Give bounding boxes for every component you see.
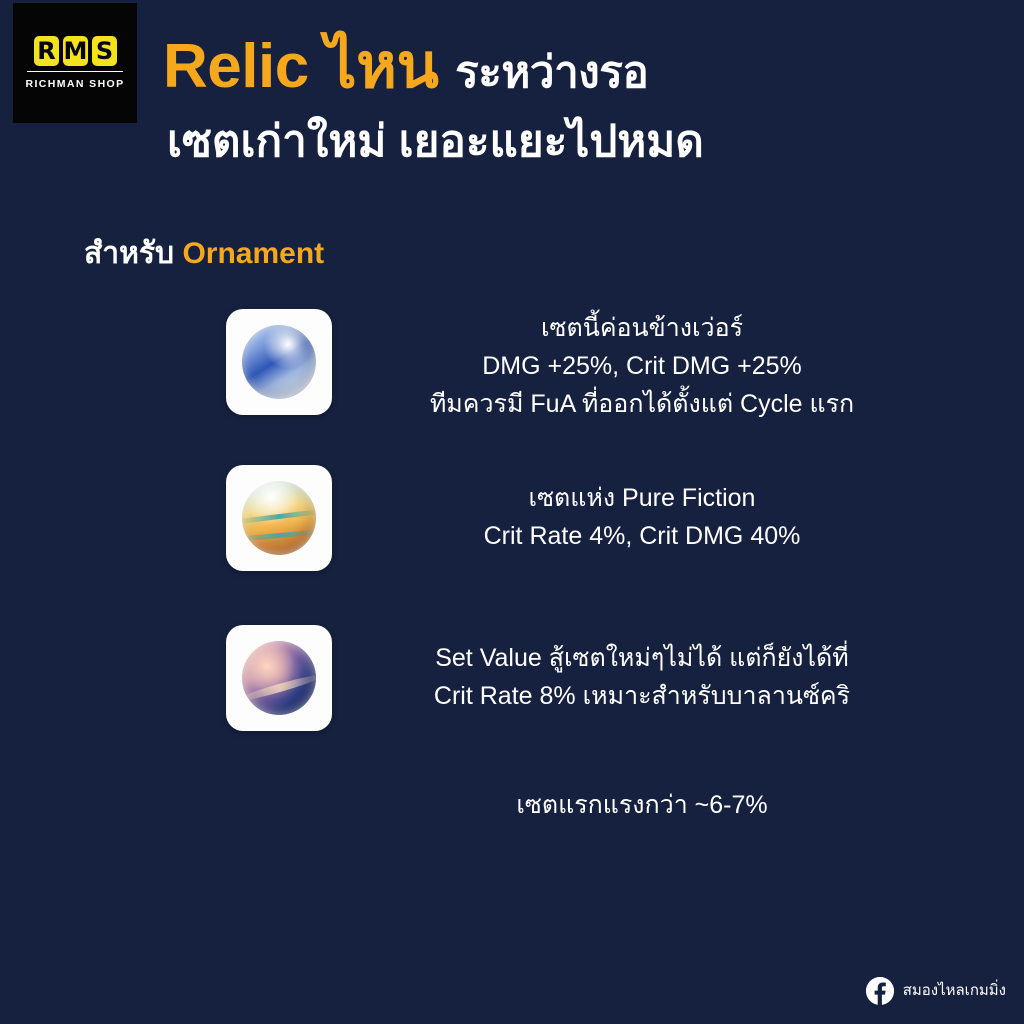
orb-ring: [242, 671, 316, 705]
logo-letter-s: S: [92, 36, 117, 66]
relic-orb-gold-icon: [242, 481, 316, 555]
logo-divider: [27, 71, 123, 72]
relic-description-line: เซตแห่ง Pure Fiction: [332, 479, 952, 517]
orb-band: [242, 509, 316, 524]
title-suffix-text: ระหว่างรอ: [455, 48, 648, 97]
relic-description-line: ทีมควรมี FuA ที่ออกได้ตั้งแต่ Cycle แรก: [332, 385, 952, 423]
logo-letters: R M S: [34, 36, 117, 66]
orb-band: [242, 529, 316, 541]
logo-letter-r: R: [34, 36, 59, 66]
section-label-en: Ornament: [182, 237, 324, 270]
section-heading: สำหรับ Ornament: [84, 232, 324, 276]
relic-description-line: เซตนี้ค่อนข้างเว่อร์: [332, 309, 952, 347]
relic-description: Set Value สู้เซตใหม่ๆไม่ได้ แต่ก็ยังได้ท…: [332, 639, 952, 715]
title-accent-text: Relic ไหน: [163, 32, 438, 101]
title-line-2: เซตเก่าใหม่ เยอะแยะไปหมด: [167, 114, 863, 170]
relic-description-line: DMG +25%, Crit DMG +25%: [332, 347, 952, 385]
facebook-icon[interactable]: [866, 977, 894, 1005]
comparison-footnote: เซตแรกแรงกว่า ~6-7%: [332, 786, 952, 824]
relic-description-line: Set Value สู้เซตใหม่ๆไม่ได้ แต่ก็ยังได้ท…: [332, 639, 952, 677]
section-label-th: สำหรับ: [84, 237, 174, 270]
relic-icon-card: [226, 309, 332, 415]
header: R M S RICHMAN SHOP Relic ไหน ระหว่างรอ เ…: [0, 0, 1024, 200]
logo-subtitle: RICHMAN SHOP: [25, 78, 124, 90]
relic-description: เซตนี้ค่อนข้างเว่อร์ DMG +25%, Crit DMG …: [332, 309, 952, 423]
relic-icon-card: [226, 465, 332, 571]
logo-letter-m: M: [63, 36, 88, 66]
title-line-1: Relic ไหน ระหว่างรอ: [163, 28, 863, 112]
brand-logo: R M S RICHMAN SHOP: [13, 3, 137, 123]
relic-description-line: Crit Rate 8% เหมาะสำหรับบาลานซ์คริ: [332, 677, 952, 715]
relic-description-line: Crit Rate 4%, Crit DMG 40%: [332, 517, 952, 555]
relic-orb-planet-icon: [242, 641, 316, 715]
relic-icon-card: [226, 625, 332, 731]
list-item: เซตแห่ง Pure Fiction Crit Rate 4%, Crit …: [0, 463, 1024, 577]
poster-root: R M S RICHMAN SHOP Relic ไหน ระหว่างรอ เ…: [0, 0, 1024, 1024]
title-block: Relic ไหน ระหว่างรอ เซตเก่าใหม่ เยอะแยะไ…: [163, 28, 863, 170]
relic-orb-blue-icon: [242, 325, 316, 399]
footer-page-name: สมองไหลเกมมิ่ง: [903, 980, 1006, 1002]
relic-description: เซตแห่ง Pure Fiction Crit Rate 4%, Crit …: [332, 479, 952, 555]
footer-credit[interactable]: สมองไหลเกมมิ่ง: [866, 977, 1006, 1005]
list-item: Set Value สู้เซตใหม่ๆไม่ได้ แต่ก็ยังได้ท…: [0, 623, 1024, 737]
list-item: เซตนี้ค่อนข้างเว่อร์ DMG +25%, Crit DMG …: [0, 305, 1024, 423]
